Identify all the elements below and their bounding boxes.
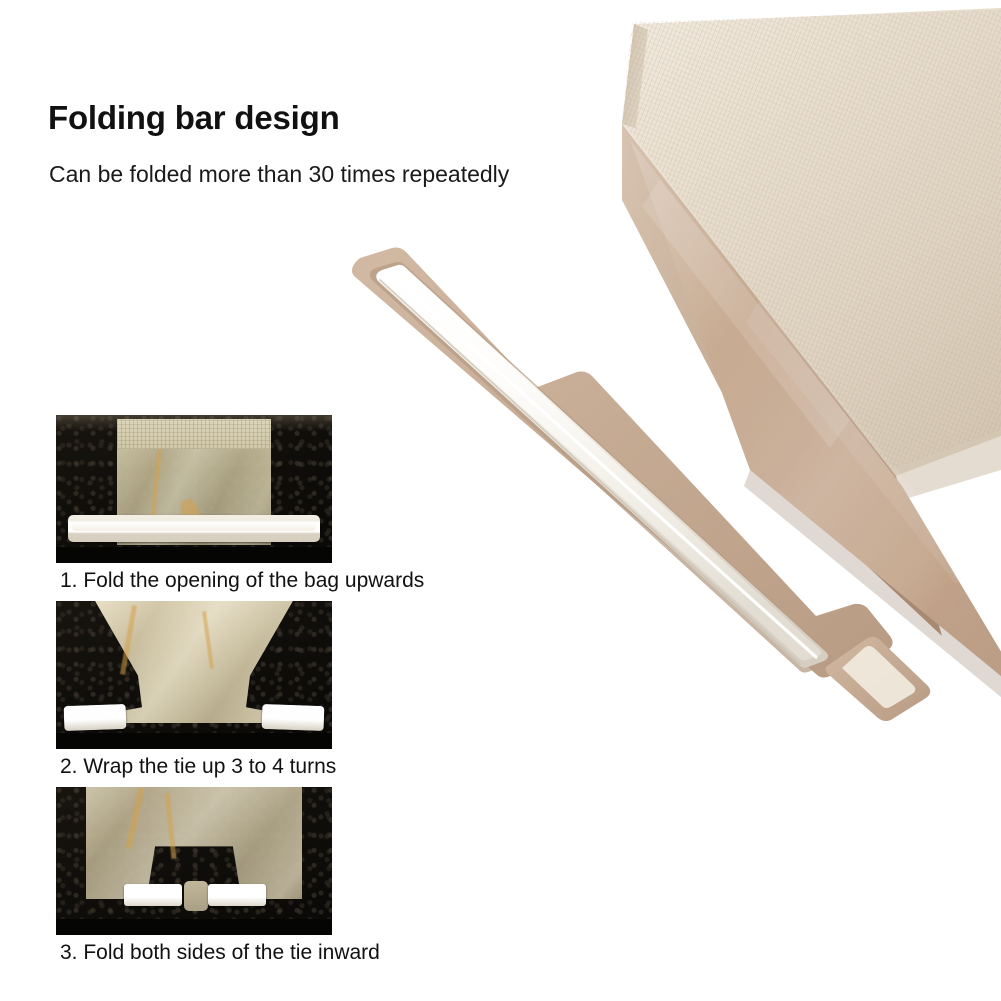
step-item-2: 2. Wrap the tie up 3 to 4 turns	[56, 601, 332, 787]
photo-bottom-band	[56, 919, 332, 935]
steps-list: 1. Fold the opening of the bag upwards 2…	[56, 415, 332, 973]
step-item-1: 1. Fold the opening of the bag upwards	[56, 415, 332, 601]
step-3-photo	[56, 787, 332, 935]
step-1-caption: 1. Fold the opening of the bag upwards	[56, 563, 332, 601]
tie-bar	[68, 515, 320, 542]
bag-illustration	[330, 0, 1001, 760]
tie-end-left	[64, 704, 127, 731]
photo-bottom-band	[56, 733, 332, 749]
hero-product-image	[330, 0, 1001, 760]
step-2-caption: 2. Wrap the tie up 3 to 4 turns	[56, 749, 332, 787]
tie-end-right-folded	[208, 884, 266, 906]
product-infographic: Folding bar design Can be folded more th…	[0, 0, 1001, 1001]
page-title: Folding bar design	[48, 99, 340, 137]
step-2-photo	[56, 601, 332, 749]
photo-bottom-band	[56, 547, 332, 563]
step-3-caption: 3. Fold both sides of the tie inward	[56, 935, 332, 973]
step-1-photo	[56, 415, 332, 563]
tie-knot-center	[184, 881, 208, 911]
tie-end-right	[262, 704, 325, 731]
bag-paper-top	[117, 419, 271, 449]
tie-end-left-folded	[124, 884, 182, 906]
page-subtitle: Can be folded more than 30 times repeate…	[49, 161, 509, 188]
step-item-3: 3. Fold both sides of the tie inward	[56, 787, 332, 973]
